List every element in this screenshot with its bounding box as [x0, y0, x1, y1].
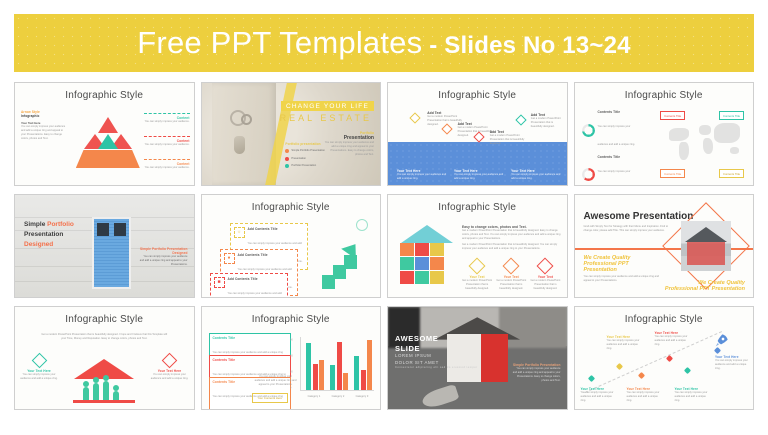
chart-ytick-90: 90 — [290, 339, 293, 342]
slide-thumbnail-5[interactable]: Simple Portfolio Presentation Designed S… — [14, 194, 195, 298]
chart-group-2 — [330, 342, 348, 390]
slide-12-item-1-text: You can simply impress your audience and… — [581, 391, 615, 403]
slide-thumbnail-11[interactable]: AWESOME SLIDE LOREM IPSUM DOLOR SIT AMET… — [387, 306, 568, 410]
header-title-group: Free PPT Templates - Slides No 13~24 — [137, 25, 630, 61]
slide-2-headline: REAL ESTATE — [280, 113, 372, 123]
slide-thumbnail-4[interactable]: Infographic Style Contents TitleYou can … — [574, 82, 755, 186]
diamond-icon-2 — [503, 257, 520, 274]
slide-7-icon-item-2: Your Text Get a modern PowerPoint Presen… — [496, 260, 526, 291]
house-photo — [681, 221, 731, 271]
slide-thumbnail-1[interactable]: Infographic Style Arrow Style Infographi… — [14, 82, 195, 186]
pyramid-center-triangle — [98, 134, 118, 149]
slide-1-side-1-text: You can simply impress your audience. — [144, 120, 190, 124]
pyramid-graphic — [76, 117, 140, 173]
chart-category-1: Category 1 — [304, 395, 324, 398]
bag-icon: ■ — [214, 277, 225, 288]
header-separator: - — [422, 32, 444, 59]
model-house-red-facade — [481, 334, 508, 383]
chart-bar-s3-c3 — [367, 340, 372, 390]
slide-11-right-block: Simple Portfolio Presentation You can si… — [513, 363, 561, 383]
slide-2-bullet-3: Portfolio Presentation — [291, 164, 316, 168]
slide-5-side-text: You can simply impress your audience and… — [140, 255, 188, 267]
slide-thumbnail-10[interactable]: Infographic Style Contents Title You can… — [201, 306, 382, 410]
map-pin-icon-1 — [410, 112, 421, 123]
slide-thumbnail-2[interactable]: CHANGE YOUR LIFE REAL ESTATE Portfolio P… — [201, 82, 382, 186]
path-node-5 — [683, 367, 690, 374]
chart-bar-s1-c3 — [354, 356, 359, 390]
slide-thumbnail-7[interactable]: Infographic Style Easy to change colors,… — [387, 194, 568, 298]
slide-8-tagline-2: Professional PPT Presentation — [584, 261, 662, 273]
slide-5-title-line3: Designed — [24, 241, 53, 248]
chart-bar-s2-c3 — [361, 370, 366, 390]
slide-3-marker-4: Add Text Get a modern PowerPoint Present… — [531, 113, 563, 129]
header-subtitle: Slides No 13~24 — [444, 32, 630, 59]
door-panel — [212, 83, 276, 185]
slide-1-side-3: Content You can simply impress your audi… — [144, 159, 190, 170]
slide-12-item-2-text: You can simply impress your audience and… — [607, 339, 641, 351]
chart-x-axis — [300, 390, 374, 391]
chart-ytick-30: 30 — [290, 371, 293, 374]
chart-category-2: Category 2 — [328, 395, 348, 398]
slide-7-icon-item-1: Your Text Get a modern PowerPoint Presen… — [462, 260, 492, 291]
slide-4-title: Infographic Style — [575, 90, 754, 101]
slide-12-item-5-text: You can simply impress your audience and… — [675, 391, 711, 403]
slide-6-step-3-text: You can simply impress your audience and… — [228, 292, 283, 299]
slide-7-title: Infographic Style — [388, 202, 567, 213]
slide-4-callout-1: Contents Title — [660, 111, 685, 120]
key-ring-small-icon — [241, 114, 252, 125]
slide-12-item-4: Your Text Here You can simply impress yo… — [655, 331, 691, 347]
bullet-dot-icon — [285, 157, 289, 161]
slide-3-column-3: Your Text Here You can simply impress yo… — [511, 169, 561, 181]
slide-6-title: Infographic Style — [202, 202, 381, 213]
slide-8-footer-2: Professional PPT Presentation — [665, 286, 745, 292]
slide-3-column-1: Your Text Here You can simply impress yo… — [397, 169, 447, 181]
list-item: Portfolio Presentation — [285, 164, 337, 168]
slide-12-item-1: Your Text Here You can simply impress yo… — [581, 387, 615, 403]
slide-12-item-5: Your Text Here You can simply impress yo… — [675, 387, 711, 403]
chart-bar-s3-c2 — [343, 373, 348, 390]
slide-2-bullet-1: Simple Portfolio Presentation — [291, 149, 324, 153]
slide-9-left-item: Your Text Here You can simply impress yo… — [20, 355, 58, 381]
puzzle-house-graphic — [400, 225, 454, 279]
slide-1-body: You can simply impress your audience and… — [21, 125, 67, 141]
slide-1-side-1: Content You can simply impress your audi… — [144, 113, 190, 124]
slide-12-item-3: Your Text Here You can simply impress yo… — [627, 387, 661, 403]
diamond-icon-right — [162, 353, 178, 369]
slide-3-column-2: Your Text Here You can simply impress yo… — [454, 169, 504, 181]
divider — [144, 159, 190, 160]
slide-3-column-3-text: You can simply impress your audience and… — [511, 173, 561, 181]
slide-thumbnail-grid: Infographic Style Arrow Style Infographi… — [14, 82, 754, 410]
list-item: Presentation — [285, 157, 337, 161]
slide-5-title-block: Simple Portfolio Presentation Designed — [24, 220, 74, 250]
slide-11-small: Consectetur adipiscing elit sed do eiusm… — [395, 366, 478, 370]
pyramid-base — [76, 150, 140, 168]
slide-11-sub2: DOLOR SIT AMET — [395, 360, 439, 365]
page-header-banner: Free PPT Templates - Slides No 13~24 — [14, 14, 754, 72]
chart-bar-s1-c1 — [306, 343, 311, 390]
slide-11-kicker-block: AWESOME SLIDE — [395, 334, 438, 354]
slide-8-heading: Awesome Presentation — [584, 211, 694, 222]
slide-10-title: Infographic Style — [202, 314, 381, 325]
chart-bar-s2-c2 — [337, 342, 342, 390]
slide-7-icon-2-text: Get a modern PowerPoint Presentation tha… — [496, 279, 526, 291]
slide-7-icon-1-text: Get a modern PowerPoint Presentation tha… — [462, 279, 492, 291]
slide-7-icon-item-3: Your Text Get a modern PowerPoint Presen… — [530, 260, 560, 291]
slide-1-side-2-text: You can simply impress your audience. — [144, 143, 190, 147]
slide-thumbnail-6[interactable]: Infographic Style ☼ Add Contents TitleYo… — [201, 194, 382, 298]
slide-1-side-2: Content You can simply impress your audi… — [144, 136, 190, 147]
chart-ytick-60: 60 — [290, 355, 293, 358]
slide-9-right-item: Your Text Here You can simply impress yo… — [151, 355, 189, 381]
slide-5-side-block: Simple Portfolio Presentation Designed Y… — [140, 247, 188, 267]
slide-4-callout-3: Contents Title — [660, 169, 685, 178]
chart-bar-s2-c1 — [313, 364, 318, 390]
header-main-title: Free PPT Templates — [137, 25, 422, 60]
slide-3-marker-3-text: Get a modern PowerPoint Presentation tha… — [490, 134, 530, 146]
slide-7-body2: Get a modern PowerPoint Presentation tha… — [462, 243, 561, 251]
chart-group-3 — [354, 340, 372, 390]
bar-chart: 0 30 60 90 Cate — [290, 337, 374, 399]
path-node-2 — [615, 363, 622, 370]
target-ring-icon — [356, 219, 368, 231]
chat-icon: ● — [224, 253, 235, 264]
slide-9-right-text: You can simply impress your audience and… — [151, 373, 189, 381]
slide-10-item-1-title: Contents Title — [213, 336, 287, 340]
path-node-1 — [587, 375, 594, 382]
slide-4-donut-2-title: Contents Title — [598, 155, 640, 159]
slide-7-body: Get a modern PowerPoint Presentation tha… — [462, 229, 561, 241]
slide-gallery-page: Free PPT Templates - Slides No 13~24 Inf… — [0, 0, 768, 435]
slide-6-step-2-title: Add Contents Title — [238, 253, 294, 257]
rocket-icon — [713, 333, 729, 349]
path-node-4 — [665, 355, 672, 362]
house-body — [687, 242, 725, 265]
slide-2-list-heading: Portfolio presentation — [285, 142, 337, 146]
slide-9-title: Infographic Style — [15, 314, 194, 325]
slide-2-bullet-list: Portfolio presentation Simple Portfolio … — [285, 142, 337, 172]
slide-12-title: Infographic Style — [575, 314, 754, 325]
slide-10-pill: Your Contents Here — [252, 393, 288, 403]
slide-4-donut-1-title: Contents Title — [598, 110, 640, 114]
slide-2-bullet-2: Presentation — [291, 157, 306, 161]
slide-2-highlight: CHANGE YOUR LIFE — [281, 101, 374, 111]
slide-4-donut-1-text: You can simply impress your audience and… — [598, 125, 636, 146]
slide-8-sub: You can simply impress your audience and… — [584, 275, 662, 283]
slide-6-step-3-title: Add Contents Title — [228, 277, 284, 281]
slide-4-donut-2-text: You can simply impress your audience and… — [598, 170, 636, 187]
house-roof — [685, 227, 727, 242]
key-fob — [234, 136, 245, 154]
slide-11-right-text: You can simply impress your audience and… — [513, 367, 561, 383]
slide-8-body: Grab with Simply Text for Strategy with … — [584, 225, 670, 233]
slide-thumbnail-8[interactable]: Awesome Presentation Grab with Simply Te… — [574, 194, 755, 298]
list-item: Simple Portfolio Presentation — [285, 149, 337, 153]
slide-1-kicker-sub: Infographic — [21, 114, 67, 118]
slide-3-column-2-text: You can simply impress your audience and… — [454, 173, 504, 181]
slide-thumbnail-12[interactable]: Infographic Style Your Text Here You can… — [574, 306, 755, 410]
slide-5-title-accent: Portfolio — [47, 221, 74, 228]
slide-12-item-2: Your Text Here You can simply impress yo… — [607, 335, 641, 351]
slide-9-top-text: Get a modern PowerPoint Presentation tha… — [41, 333, 168, 341]
bullet-dot-icon — [285, 149, 289, 153]
family-house-graphic — [73, 359, 135, 403]
donut-chart-icon-1 — [582, 124, 595, 137]
slide-11-kicker2: SLIDE — [395, 344, 420, 353]
slide-thumbnail-3[interactable]: Infographic Style Add Text Get a modern … — [387, 82, 568, 186]
donut-item-1: Contents TitleYou can simply impress you… — [582, 110, 640, 150]
slide-thumbnail-9[interactable]: Infographic Style Get a modern PowerPoin… — [14, 306, 195, 410]
slide-4-callout-2: Contents Title — [719, 111, 744, 120]
divider — [144, 113, 190, 114]
slide-1-side-3-text: You can simply impress your audience. — [144, 166, 190, 170]
dotted-path — [584, 331, 721, 393]
slide-11-kicker: AWESOME — [395, 334, 438, 343]
donut-item-2: Contents TitleYou can simply impress you… — [582, 155, 640, 187]
slide-7-icon-3-text: Get a modern PowerPoint Presentation tha… — [530, 279, 560, 291]
world-map-graphic — [664, 117, 748, 163]
donut-chart-icon-2 — [582, 168, 595, 181]
chart-bar-s3-c1 — [319, 360, 324, 390]
slide-6-step-3: ■ Add Contents TitleYou can simply impre… — [210, 273, 288, 298]
slide-4-callout-4: Contents Title — [719, 169, 744, 178]
slide-5-title-line1: Simple — [24, 221, 45, 228]
blue-door-graphic — [92, 217, 131, 288]
chart-y-axis — [300, 337, 301, 391]
slide-6-step-1-title: Add Contents Title — [248, 227, 304, 231]
slide-3-column-1-text: You can simply impress your audience and… — [397, 173, 447, 181]
map-pin-icon-4 — [515, 114, 526, 125]
slide-11-sub-block: LOREM IPSUM DOLOR SIT AMET Consectetur a… — [395, 353, 478, 370]
slide-3-marker-4-text: Get a modern PowerPoint Presentation tha… — [531, 117, 563, 129]
bullet-dot-icon — [285, 164, 289, 168]
lightbulb-icon: ☼ — [234, 227, 245, 238]
chart-category-3: Category 3 — [352, 395, 372, 398]
house-keys — [420, 383, 459, 410]
slide-3-title: Infographic Style — [388, 90, 567, 101]
path-node-3 — [637, 372, 644, 379]
slide-12-item-4-text: You can simply impress your audience and… — [655, 335, 691, 347]
divider — [144, 136, 190, 137]
slide-10-note: You can simply impress your audience and… — [254, 375, 298, 387]
slide-12-item-6-text: You can simply impress your audience and… — [715, 359, 749, 371]
diamond-icon-3 — [537, 257, 554, 274]
slide-1-title: Infographic Style — [15, 90, 194, 101]
diamond-icon-1 — [469, 257, 486, 274]
slide-11-sub1: LOREM IPSUM — [395, 353, 431, 358]
slide-10-item-2-title: Contents Title — [213, 358, 287, 362]
chart-group-1 — [306, 343, 324, 390]
pyramid-level-1 — [98, 117, 118, 133]
slide-3-marker-3: Add Text Get a modern PowerPoint Present… — [490, 130, 530, 146]
chart-bar-s1-c2 — [330, 365, 335, 390]
slide-12-item-6: Your Text Here You can simply impress yo… — [715, 355, 749, 371]
diamond-icon-left — [31, 353, 47, 369]
slide-5-title-line2: Presentation — [24, 231, 63, 238]
slide-5-side-title: Simple Portfolio Presentation Designed — [140, 247, 188, 255]
slide-12-item-3-text: You can simply impress your audience and… — [627, 391, 661, 403]
slide-9-left-text: You can simply impress your audience and… — [20, 373, 58, 381]
